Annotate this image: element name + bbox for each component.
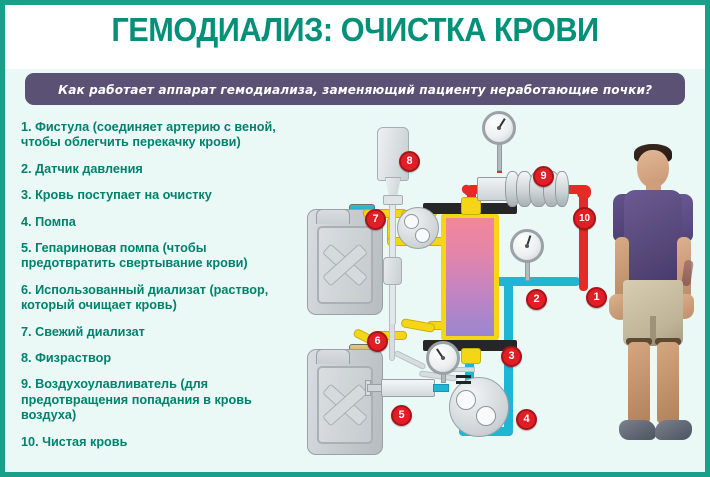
heparin-syringe — [367, 379, 447, 395]
clean-blood-return-line — [579, 189, 588, 291]
list-item: 2. Датчик давления — [21, 161, 296, 176]
gauge-hub — [497, 126, 501, 130]
subtitle-text: Как работает аппарат гемодиализа, заменя… — [58, 82, 652, 97]
list-item: 5. Гепариновая помпа (чтобы предотвратит… — [21, 240, 296, 271]
list-item: 8. Физраствор — [21, 350, 296, 365]
blood-pump — [449, 377, 509, 437]
canister-panel — [317, 226, 373, 304]
patient-figure — [597, 144, 709, 464]
badge-fistula[interactable]: 1 — [586, 287, 607, 308]
shoe-left — [619, 420, 656, 440]
subtitle-banner: Как работает аппарат гемодиализа, заменя… — [25, 73, 685, 105]
list-item: 10. Чистая кровь — [21, 434, 296, 449]
syringe-tip — [433, 384, 449, 392]
pump-roller — [456, 390, 476, 410]
bottle-collar — [383, 195, 403, 205]
pressure-gauge-dialysate — [426, 341, 460, 375]
arterial-line-to-arm — [504, 277, 580, 286]
pressure-gauge-arterial — [482, 111, 516, 145]
badge-saline[interactable]: 8 — [399, 151, 420, 172]
canister-handle — [316, 209, 350, 224]
used-dialysate-canister — [307, 349, 383, 455]
dialyzer-bottom-port — [461, 348, 481, 364]
line-clamp — [456, 381, 471, 384]
list-item: 1. Фистула (соединяет артерию с веной, ч… — [21, 119, 296, 150]
badge-blood-in[interactable]: 3 — [501, 346, 522, 367]
badge-clean-blood[interactable]: 10 — [573, 207, 596, 230]
clean-blood-tube-bend — [577, 185, 591, 199]
pump-roller — [476, 406, 496, 426]
roller-element — [404, 214, 419, 229]
roller-element — [415, 228, 430, 243]
badge-pump[interactable]: 4 — [516, 409, 537, 430]
page-title: ГЕМОДИАЛИЗ: ОЧИСТКА КРОВИ — [30, 11, 681, 49]
list-item: 9. Воздухоулавливатель (для предотвращен… — [21, 376, 296, 422]
badge-fresh-dialysate[interactable]: 7 — [365, 209, 386, 230]
badge-pressure-sensor[interactable]: 2 — [526, 289, 547, 310]
canister-handle — [316, 349, 350, 364]
shoe-right — [655, 420, 692, 440]
badge-heparin-pump[interactable]: 5 — [391, 405, 412, 426]
leg-right — [657, 342, 679, 424]
torso-tshirt — [624, 190, 682, 284]
air-trap-segment — [555, 171, 569, 207]
roller-pump — [397, 207, 439, 249]
dialyzer-filter — [441, 213, 499, 341]
line-clamp — [456, 375, 471, 378]
list-item: 6. Использованный диализат (раствор, кот… — [21, 282, 296, 313]
gauge-hub — [525, 244, 529, 248]
legend-list: 1. Фистула (соединяет артерию с веной, ч… — [21, 119, 307, 460]
syringe-barrel — [381, 379, 435, 397]
list-item: 4. Помпа — [21, 214, 296, 229]
saline-line — [393, 350, 426, 370]
pressure-gauge-venous — [510, 229, 544, 263]
canister-panel — [317, 366, 373, 444]
badge-used-dialysate[interactable]: 6 — [367, 331, 388, 352]
drip-chamber — [383, 257, 402, 285]
list-item: 7. Свежий диализат — [21, 324, 296, 339]
infographic-poster: ГЕМОДИАЛИЗ: ОЧИСТКА КРОВИ Как работает а… — [0, 0, 710, 477]
badge-air-trap[interactable]: 9 — [533, 166, 554, 187]
leg-left — [628, 342, 650, 424]
list-item: 3. Кровь поступает на очистку — [21, 187, 296, 202]
gauge-hub — [441, 356, 445, 360]
